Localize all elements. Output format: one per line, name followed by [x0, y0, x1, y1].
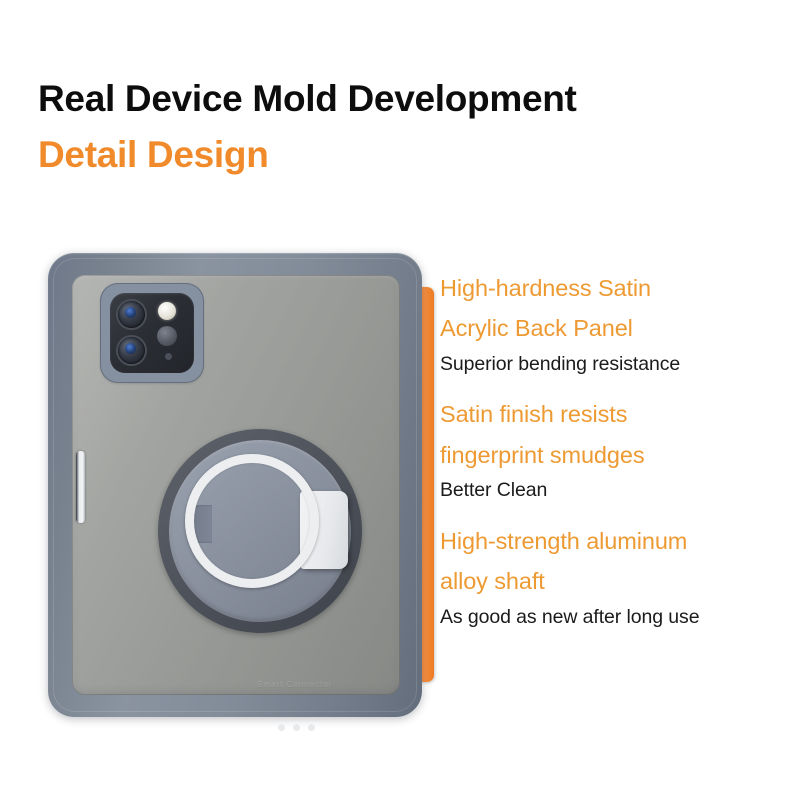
feature-headline-line2: fingerprint smudges	[440, 435, 792, 475]
feature-list: High-hardness Satin Acrylic Back Panel S…	[440, 268, 792, 633]
camera-cutout	[100, 283, 204, 383]
kickstand-ring	[185, 454, 319, 588]
back-panel: Smart Connector	[72, 275, 400, 695]
page-title: Real Device Mold Development	[38, 78, 738, 119]
page-subtitle: Detail Design	[38, 134, 738, 175]
feature-subtext: As good as new after long use	[440, 602, 792, 634]
camera-lens-bottom	[118, 337, 145, 364]
rotating-ring-assembly	[158, 429, 362, 633]
microphone-icon	[165, 353, 172, 360]
feature-headline-line1: Satin finish resists	[440, 394, 792, 434]
panel-emboss-text: Smart Connector	[257, 680, 332, 689]
camera-module	[110, 293, 194, 373]
case-frame: Smart Connector	[48, 253, 422, 717]
feature-subtext: Superior bending resistance	[440, 349, 792, 381]
feature-subtext: Better Clean	[440, 475, 792, 507]
camera-flash-icon	[158, 302, 176, 320]
feature-headline-line1: High-hardness Satin	[440, 268, 792, 308]
heading-block: Real Device Mold Development Detail Desi…	[38, 78, 738, 176]
feature-headline-line1: High-strength aluminum	[440, 521, 792, 561]
connector-dot	[293, 724, 300, 731]
lidar-sensor-icon	[157, 326, 177, 346]
product-image: Smart Connector	[20, 235, 440, 735]
feature-headline-line2: alloy shaft	[440, 561, 792, 601]
feature-block: Satin finish resists fingerprint smudges…	[440, 394, 792, 506]
feature-block: High-strength aluminum alloy shaft As go…	[440, 521, 792, 633]
feature-headline-line2: Acrylic Back Panel	[440, 308, 792, 348]
camera-lens-top	[118, 301, 145, 328]
smart-connector	[278, 724, 315, 731]
side-button-cutout	[76, 451, 85, 523]
connector-dot	[308, 724, 315, 731]
connector-dot	[278, 724, 285, 731]
feature-block: High-hardness Satin Acrylic Back Panel S…	[440, 268, 792, 380]
